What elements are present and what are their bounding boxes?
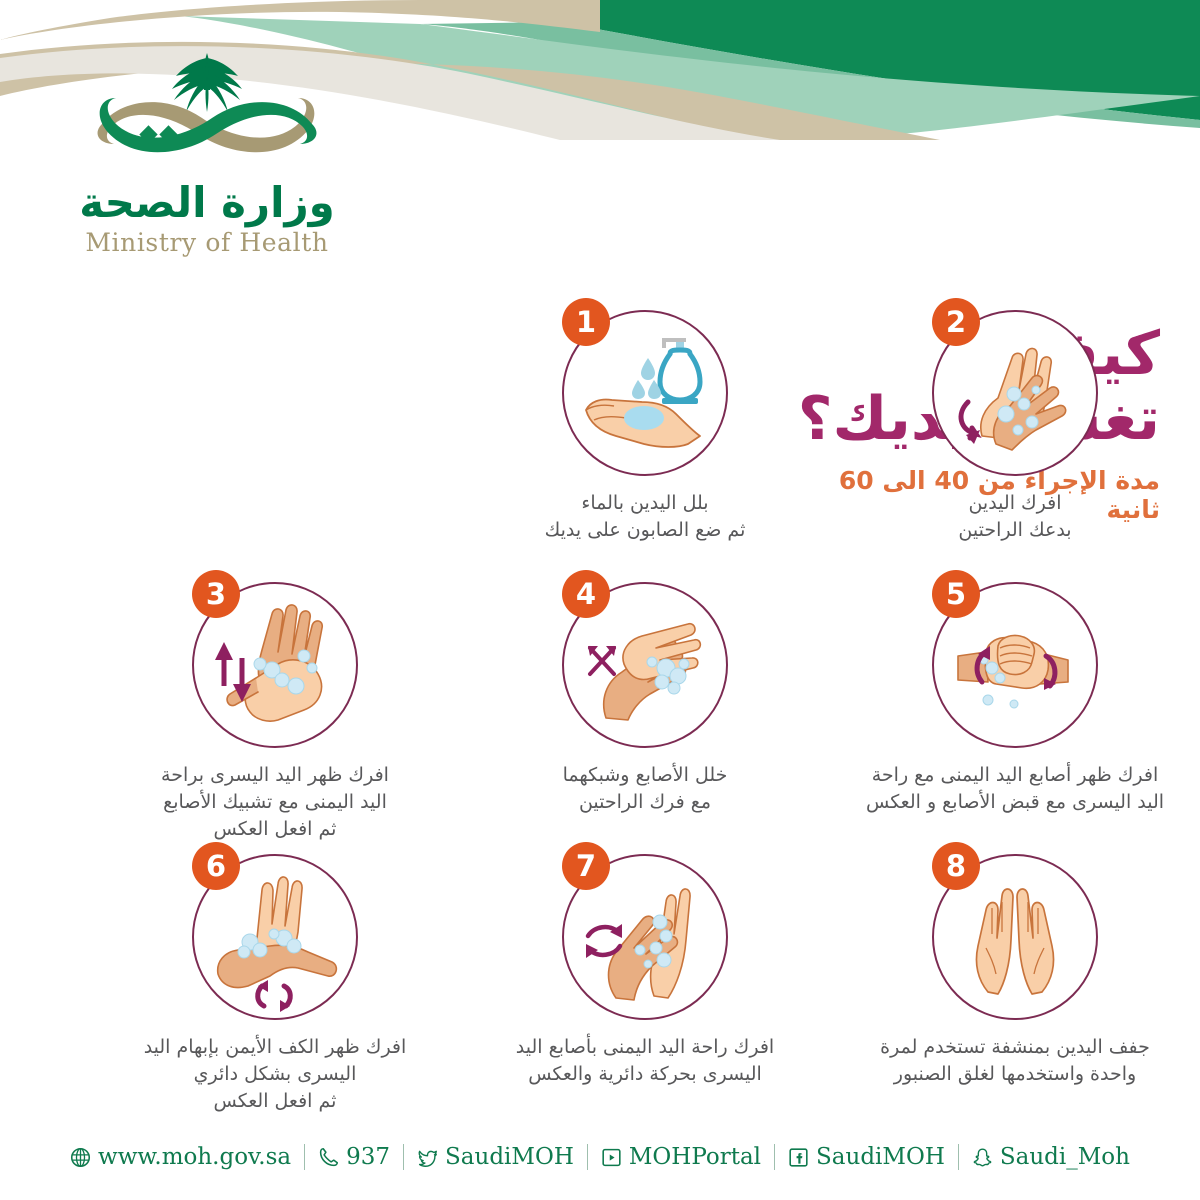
step-7-illustration: 7 — [562, 854, 728, 1020]
snapchat-icon — [972, 1147, 993, 1168]
step-card-3: 3 افرك ظهر اليد اليسرى براحةاليد اليمنى … — [90, 582, 460, 854]
phone-icon — [318, 1147, 339, 1168]
arrow-head-up — [215, 642, 233, 660]
step-card-8: 8 جفف اليدين بمنشفة تستخدم لمرةواحدة واس… — [830, 854, 1200, 1134]
footer-label: 937 — [346, 1144, 390, 1170]
soap-blob — [624, 406, 664, 430]
moh-logo: وزارة الصحة Ministry of Health — [62, 48, 352, 257]
moh-palm-swords-logo-icon — [62, 48, 352, 178]
steps-row-1: 2 افرك اليدينبدعك الراحتين — [0, 310, 1200, 582]
step-number-badge: 6 — [192, 842, 240, 890]
ribbon-band-mid-green — [420, 22, 1200, 128]
step-number-badge: 8 — [932, 842, 980, 890]
logo-name-english: Ministry of Health — [62, 228, 352, 257]
ribbon-band-dark-green — [420, 0, 1200, 120]
horizontal-hand-thumb — [218, 945, 337, 987]
step-number-badge: 2 — [932, 298, 980, 346]
step-2-illustration: 2 — [932, 310, 1098, 476]
footer-item-facebook[interactable]: SaudiMOH — [775, 1144, 958, 1170]
step-card-4: 4 خلل الأصابع وشبكهمامع فرك الراحتين — [460, 582, 830, 854]
steps-row-2: 5 افرك ظهر أصابع اليد اليمنى مع راحةاليد… — [0, 582, 1200, 854]
step-caption: جفف اليدين بمنشفة تستخدم لمرةواحدة واستخ… — [850, 1034, 1180, 1088]
footer-label: MOHPortal — [629, 1144, 761, 1170]
step-8-illustration: 8 — [932, 854, 1098, 1020]
step-card-7: 7 افرك راحة اليد اليمنى بأصابع اليداليسر… — [460, 854, 830, 1134]
footer-item-website[interactable]: www.moh.gov.sa — [57, 1144, 304, 1170]
step-caption: بلل اليدين بالماءثم ضع الصابون على يديك — [480, 490, 810, 544]
footer-item-twitter[interactable]: SaudiMOH — [404, 1144, 587, 1170]
step-caption: خلل الأصابع وشبكهمامع فرك الراحتين — [480, 762, 810, 816]
footer-label: Saudi_Moh — [1000, 1144, 1130, 1170]
step-card-1: 1 بلل اليدين بالماءثم ضع الصابون على يدي… — [460, 310, 830, 582]
step-5-illustration: 5 — [932, 582, 1098, 748]
footer-contact-bar: www.moh.gov.sa 937 SaudiMOH MOHPortal — [0, 1144, 1200, 1170]
headline-reserved-cell — [90, 310, 460, 582]
footer-label: www.moh.gov.sa — [98, 1144, 291, 1170]
logo-name-arabic: وزارة الصحة — [62, 180, 352, 226]
palm-tree-icon — [172, 53, 242, 112]
step-4-illustration: 4 — [562, 582, 728, 748]
step-caption: افرك اليدينبدعك الراحتين — [850, 490, 1180, 544]
footer-label: SaudiMOH — [445, 1144, 574, 1170]
footer-item-youtube[interactable]: MOHPortal — [588, 1144, 774, 1170]
globe-icon — [70, 1147, 91, 1168]
soap-dispenser-icon — [660, 338, 700, 404]
steps-row-3: 8 جفف اليدين بمنشفة تستخدم لمرةواحدة واس… — [0, 854, 1200, 1134]
water-drops-icon — [632, 358, 661, 399]
step-card-6: 6 افرك ظهر الكف الأيمن بإبهام اليداليسرى… — [90, 854, 460, 1134]
step-1-illustration: 1 — [562, 310, 728, 476]
footer-item-phone[interactable]: 937 — [305, 1144, 403, 1170]
footer-label: SaudiMOH — [816, 1144, 945, 1170]
right-hand — [1017, 889, 1054, 994]
circular-rotation-arrows-icon — [258, 986, 291, 1006]
footer-item-snapchat[interactable]: Saudi_Moh — [959, 1144, 1143, 1170]
step-6-illustration: 6 — [192, 854, 358, 1020]
facebook-icon — [788, 1147, 809, 1168]
step-caption: افرك ظهر اليد اليسرى براحةاليد اليمنى مع… — [110, 762, 440, 843]
step-caption: افرك راحة اليد اليمنى بأصابع اليداليسرى … — [480, 1034, 810, 1088]
step-number-badge: 3 — [192, 570, 240, 618]
steps-grid: 2 افرك اليدينبدعك الراحتين — [0, 310, 1200, 1134]
step-number-badge: 4 — [562, 570, 610, 618]
step-number-badge: 5 — [932, 570, 980, 618]
infographic-poster: وزارة الصحة Ministry of Health كيف تغسل … — [0, 0, 1200, 1200]
step-caption: افرك ظهر الكف الأيمن بإبهام اليداليسرى ب… — [110, 1034, 440, 1115]
twitter-icon — [417, 1147, 438, 1168]
step-3-illustration: 3 — [192, 582, 358, 748]
youtube-icon — [601, 1147, 622, 1168]
step-number-badge: 7 — [562, 842, 610, 890]
left-hand — [976, 889, 1013, 994]
cross-arrows-icon — [590, 648, 614, 674]
step-caption: افرك ظهر أصابع اليد اليمنى مع راحةاليد ا… — [850, 762, 1180, 816]
step-card-2: 2 افرك اليدينبدعك الراحتين — [830, 310, 1200, 582]
step-card-5: 5 افرك ظهر أصابع اليد اليمنى مع راحةاليد… — [830, 582, 1200, 854]
step-number-badge: 1 — [562, 298, 610, 346]
